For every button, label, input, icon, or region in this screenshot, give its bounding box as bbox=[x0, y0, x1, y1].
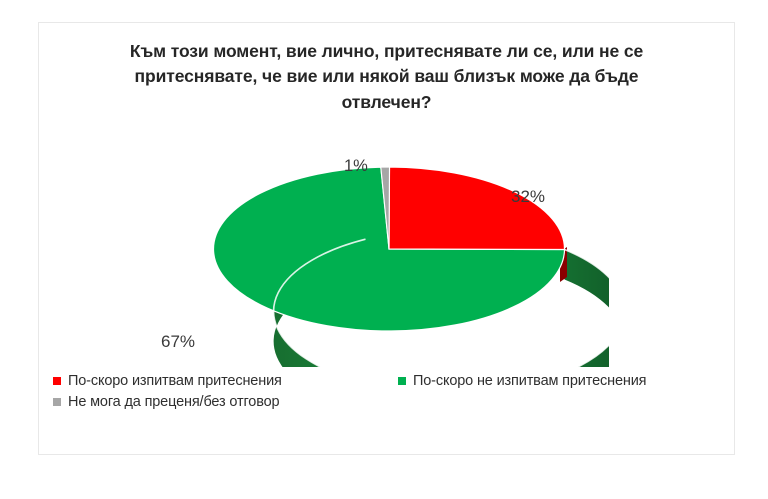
chart-title-line-3: отвлечен? bbox=[79, 90, 694, 115]
legend-swatch-gray-icon bbox=[53, 398, 61, 406]
legend-swatch-red-icon bbox=[53, 377, 61, 385]
chart-frame: Към този момент, вие лично, притеснявате… bbox=[38, 22, 735, 455]
pie-slice-top-red bbox=[389, 167, 565, 250]
chart-legend: По-скоро изпитвам притеснения По-скоро н… bbox=[53, 373, 723, 415]
data-label-red: 32% bbox=[511, 187, 545, 207]
legend-item-green[interactable]: По-скоро не изпитвам притеснения bbox=[398, 373, 646, 389]
legend-swatch-green-icon bbox=[398, 377, 406, 385]
data-label-green: 67% bbox=[161, 332, 195, 352]
chart-title-line-1: Към този момент, вие лично, притеснявате… bbox=[79, 39, 694, 64]
pie-plot-area: 1% 32% 67% bbox=[39, 127, 734, 367]
legend-row-2: Не мога да преценя/без отговор bbox=[53, 394, 723, 410]
legend-label-green: По-скоро не изпитвам притеснения bbox=[413, 373, 646, 389]
data-label-gray: 1% bbox=[344, 157, 368, 176]
legend-label-gray: Не мога да преценя/без отговор bbox=[68, 394, 279, 410]
legend-row-1: По-скоро изпитвам притеснения По-скоро н… bbox=[53, 373, 723, 389]
pie-chart-3d bbox=[169, 127, 609, 367]
chart-title: Към този момент, вие лично, притеснявате… bbox=[79, 39, 694, 115]
legend-label-red: По-скоро изпитвам притеснения bbox=[68, 373, 282, 389]
chart-title-line-2: притеснявате, че вие или някой ваш близъ… bbox=[79, 64, 694, 89]
legend-item-red[interactable]: По-скоро изпитвам притеснения bbox=[53, 373, 398, 389]
legend-item-gray[interactable]: Не мога да преценя/без отговор bbox=[53, 394, 398, 410]
